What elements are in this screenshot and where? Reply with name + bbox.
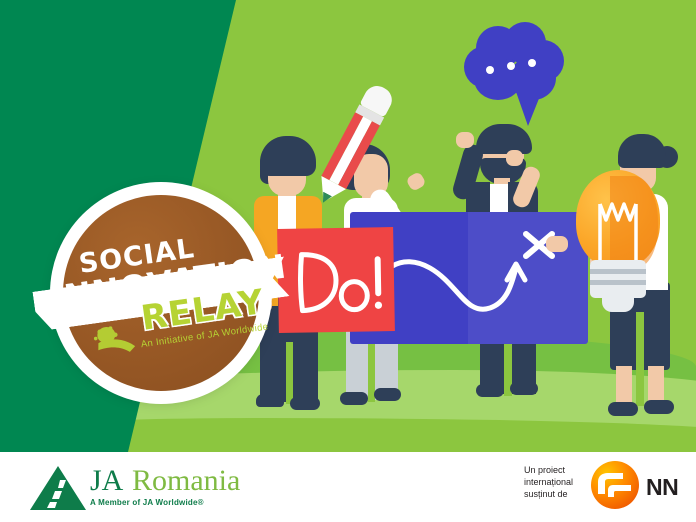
ja-romania-logo[interactable]: JA Romania A Member of JA Worldwide®: [30, 462, 260, 510]
ja-wordmark-romania: Romania: [132, 464, 240, 498]
nn-lion-logo: [590, 460, 640, 510]
hand-right: [506, 150, 523, 166]
red-sign: [277, 227, 395, 333]
hero-illustration: SOCIAL INNOVATION RELAY An Initiative of…: [0, 0, 696, 452]
ja-triangle-logo: [30, 466, 86, 510]
shoe-left: [608, 402, 638, 416]
bulb-ring: [590, 280, 646, 285]
nn-supporter-line-3: susținut de: [524, 488, 573, 500]
social-innovation-relay-poster: SOCIAL INNOVATION RELAY An Initiative of…: [0, 0, 696, 522]
footer-bar: JA Romania A Member of JA Worldwide® Un …: [0, 452, 696, 522]
nn-supporter-line-1: Un proiect: [524, 464, 573, 476]
nn-supporter-text: Un proiect internațional susținut de: [524, 464, 573, 500]
shoe-right: [510, 382, 538, 395]
nn-supporter-line-2: internațional: [524, 476, 573, 488]
hair-top: [260, 136, 316, 176]
light-bulb-icon: [576, 170, 660, 310]
bulb-tip: [602, 296, 634, 312]
hand-pointing: [546, 236, 568, 252]
hair-top: [476, 124, 532, 154]
shoe-right: [374, 388, 401, 401]
hand-raised: [456, 132, 474, 148]
thought-cloud-icon: [464, 22, 564, 106]
bulb-ring: [590, 269, 646, 274]
leg-gap: [636, 312, 644, 406]
shoe-right: [290, 397, 320, 410]
shoe-left: [340, 392, 368, 405]
nn-sponsor-block[interactable]: Un proiect internațional susținut de NN: [524, 460, 684, 512]
cloud-dot: [486, 66, 494, 74]
badge-text-group: SOCIAL INNOVATION RELAY An Initiative of…: [31, 163, 291, 423]
social-innovation-relay-badge: SOCIAL INNOVATION RELAY An Initiative of…: [46, 178, 276, 408]
cloud-dot: [507, 62, 515, 70]
hand-raised: [405, 171, 426, 192]
do-handwriting: [277, 227, 395, 333]
ja-tagline: A Member of JA Worldwide®: [90, 498, 204, 507]
nn-wordmark: NN: [646, 474, 678, 501]
bulb-base: [590, 260, 646, 298]
hair-top: [618, 134, 666, 168]
cloud-dot: [528, 59, 536, 67]
ja-wordmark-ja: JA: [90, 464, 123, 498]
leaf-fingerprint-icon: [92, 322, 138, 360]
shoe-right: [644, 400, 674, 414]
bulb-filament: [576, 170, 660, 268]
shoe-left: [476, 384, 504, 397]
